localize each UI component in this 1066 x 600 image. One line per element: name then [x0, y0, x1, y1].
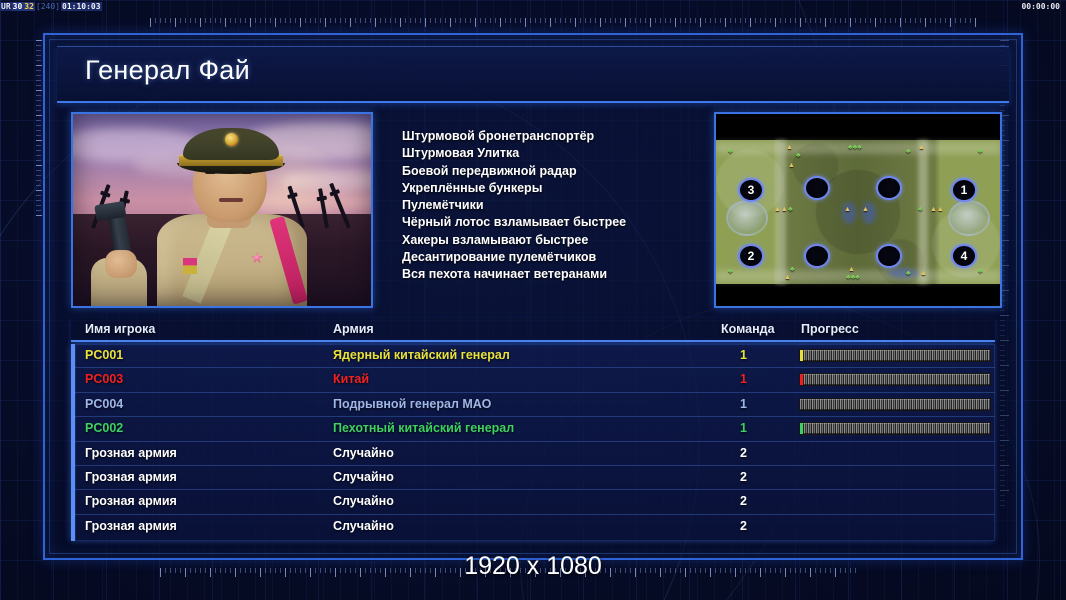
player-team-cell[interactable]: 2: [721, 494, 747, 508]
player-name-cell: Грозная армия: [85, 494, 177, 508]
player-team-cell[interactable]: 2: [721, 470, 747, 484]
table-row[interactable]: Грозная армияСлучайно2: [75, 466, 995, 490]
map-preview[interactable]: ▲ ♣ ♣ ♣♣♣ ♣ ▲ ▲ ♣ ▲▲ ♣ ▲ ▲ ♣ ▲▲ ♣ ♣ ▲: [714, 112, 1002, 308]
ability-item: Вся пехота начинает ветеранами: [402, 266, 732, 283]
player-army-cell[interactable]: Ядерный китайский генерал: [333, 348, 510, 362]
map-water: [888, 268, 918, 278]
progress-marker: [800, 423, 803, 434]
table-row[interactable]: PC003Китай1: [75, 368, 995, 392]
panel-content: Штурмовой бронетранспортёр Штурмовая Ули…: [57, 105, 1009, 545]
table-row[interactable]: PC004Подрывной генерал МАО1: [75, 393, 995, 417]
player-team-cell[interactable]: 1: [721, 348, 747, 362]
player-name-cell: PC003: [85, 372, 123, 386]
map-terrain: ▲ ♣ ♣ ♣♣♣ ♣ ▲ ▲ ♣ ▲▲ ♣ ▲ ▲ ♣ ▲▲ ♣ ♣ ▲: [716, 140, 1000, 284]
status-prefix: UR: [0, 2, 12, 11]
player-team-cell[interactable]: 1: [721, 397, 747, 411]
table-row[interactable]: Грозная армияСлучайно2: [75, 442, 995, 466]
progress-marker: [800, 350, 803, 361]
map-spawn-point[interactable]: 2: [738, 244, 764, 268]
ability-item: Десантирование пулемётчиков: [402, 249, 732, 266]
map-spawn-point[interactable]: 3: [738, 178, 764, 202]
portrait-vignette: [73, 114, 371, 306]
player-army-cell[interactable]: Случайно: [333, 494, 394, 508]
table-row[interactable]: PC001Ядерный китайский генерал1: [75, 344, 995, 368]
ability-item: Чёрный лотос взламывает быстрее: [402, 214, 732, 231]
map-spawn-point[interactable]: [876, 244, 902, 268]
map-spawn-point[interactable]: [804, 244, 830, 268]
status-value-2: 32: [23, 2, 35, 11]
player-army-cell[interactable]: Случайно: [333, 470, 394, 484]
status-bracket: [240]: [35, 2, 61, 11]
resolution-label: 1920 x 1080: [0, 552, 1066, 581]
player-army-cell[interactable]: Подрывной генерал МАО: [333, 397, 491, 411]
player-name-cell: PC002: [85, 421, 123, 435]
player-army-cell[interactable]: Случайно: [333, 519, 394, 533]
ability-item: Хакеры взламывают быстрее: [402, 232, 732, 249]
map-crater: [948, 200, 990, 236]
ability-item: Штурмовая Улитка: [402, 145, 732, 162]
map-crater: [726, 200, 768, 236]
ability-item: Штурмовой бронетранспортёр: [402, 128, 732, 145]
table-row[interactable]: Грозная армияСлучайно2: [75, 490, 995, 514]
player-team-cell[interactable]: 2: [721, 446, 747, 460]
player-name-cell: PC004: [85, 397, 123, 411]
player-army-cell[interactable]: Китай: [333, 372, 369, 386]
ruler-top: [150, 18, 980, 27]
player-team-cell[interactable]: 2: [721, 519, 747, 533]
status-timer: 01:10:03: [61, 2, 102, 11]
player-army-cell[interactable]: Пехотный китайский генерал: [333, 421, 514, 435]
column-header-progress: Прогресс: [801, 322, 859, 336]
lobby-panel: Генерал Фай: [43, 33, 1023, 560]
debug-status-bar: UR3032[240]01:10:03: [0, 0, 1066, 14]
table-row[interactable]: Грозная армияСлучайно2: [75, 515, 995, 539]
ability-item: Боевой передвижной радар: [402, 163, 732, 180]
player-name-cell: Грозная армия: [85, 470, 177, 484]
column-header-name: Имя игрока: [85, 322, 155, 336]
player-name-cell: Грозная армия: [85, 519, 177, 533]
map-spawn-point[interactable]: [804, 176, 830, 200]
map-spawn-point[interactable]: 1: [951, 178, 977, 202]
column-header-team: Команда: [721, 322, 775, 336]
progress-marker: [800, 374, 803, 385]
map-spawn-point[interactable]: 4: [951, 244, 977, 268]
player-name-cell: Грозная армия: [85, 446, 177, 460]
game-lobby-screen: UR3032[240]01:10:03 00:00:00 Генерал Фай: [0, 0, 1066, 600]
player-team-cell[interactable]: 1: [721, 421, 747, 435]
column-header-army: Армия: [333, 322, 374, 336]
player-progress-bar: [799, 398, 991, 411]
ability-item: Укреплённые бункеры: [402, 180, 732, 197]
status-clock: 00:00:00: [1021, 0, 1060, 14]
player-army-cell[interactable]: Случайно: [333, 446, 394, 460]
ability-item: Пулемётчики: [402, 197, 732, 214]
table-row[interactable]: PC002Пехотный китайский генерал1: [75, 417, 995, 441]
player-progress-bar: [799, 422, 991, 435]
player-progress-bar: [799, 349, 991, 362]
player-team-cell[interactable]: 1: [721, 372, 747, 386]
player-table-body: PC001Ядерный китайский генерал1PC003Кита…: [71, 344, 995, 541]
player-table-header: Имя игрока Армия Команда Прогресс: [71, 318, 995, 342]
general-portrait: [71, 112, 373, 308]
player-progress-bar: [799, 373, 991, 386]
status-value-1: 30: [12, 2, 24, 11]
page-title: Генерал Фай: [85, 55, 250, 86]
title-bar: Генерал Фай: [57, 46, 1009, 103]
general-abilities-list: Штурмовой бронетранспортёр Штурмовая Ули…: [402, 128, 732, 284]
player-name-cell: PC001: [85, 348, 123, 362]
map-spawn-point[interactable]: [876, 176, 902, 200]
